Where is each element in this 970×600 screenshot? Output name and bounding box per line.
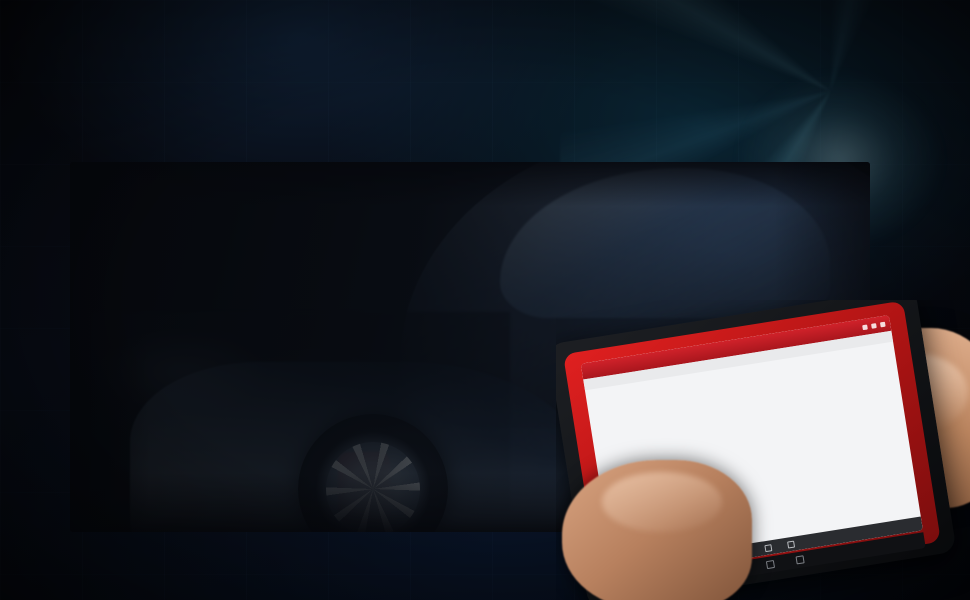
hand-left — [562, 460, 752, 600]
tablet-side-buttons[interactable] — [857, 353, 894, 359]
home-icon[interactable] — [764, 544, 772, 552]
android-home-icon[interactable] — [766, 560, 775, 569]
recents-icon[interactable] — [787, 540, 795, 548]
android-apps-icon[interactable] — [796, 555, 805, 564]
header — [38, 14, 938, 21]
tablet-status-icons — [862, 321, 885, 330]
battery-icon — [871, 323, 877, 329]
promo-banner-stage — [0, 0, 970, 600]
wifi-icon — [862, 324, 868, 330]
tablet-device-area — [556, 300, 970, 600]
vci-icon — [880, 321, 886, 327]
